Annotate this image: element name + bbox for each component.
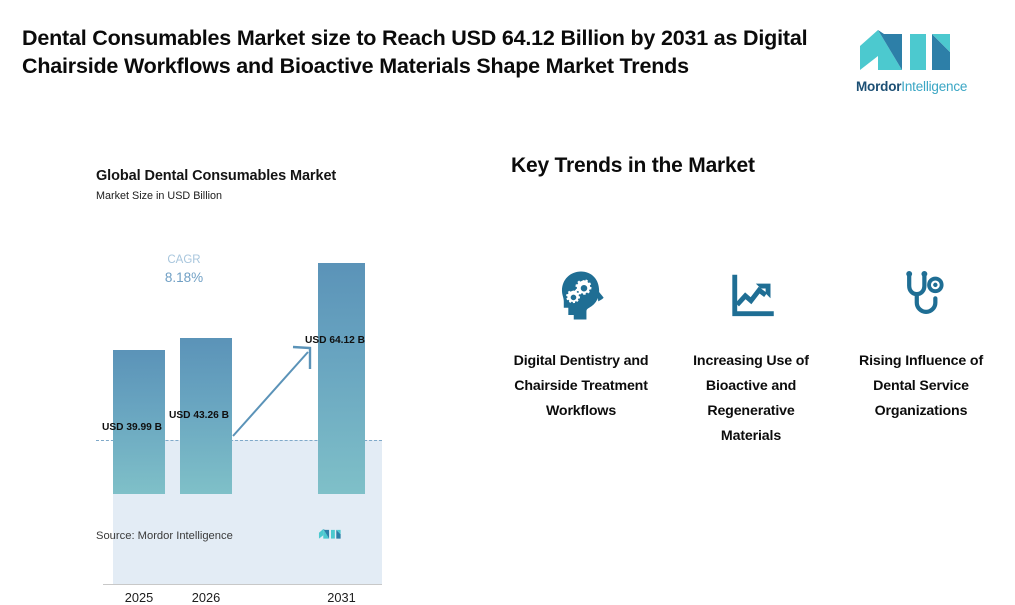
chart-subtitle: Market Size in USD Billion — [96, 190, 396, 202]
bar-chart-plot: USD 39.99 B USD 43.26 B USD 64.12 B CAGR… — [96, 252, 382, 494]
trend-label-digital-dentistry: Digital Dentistry and Chairside Treatmen… — [506, 349, 656, 424]
brand-logo: MordorIntelligence — [856, 26, 964, 98]
chart-source: Source: Mordor Intelligence — [96, 530, 233, 542]
growth-chart-icon — [725, 265, 777, 325]
trend-item-dental-service-organizations: Rising Influence of Dental Service Organ… — [836, 265, 1006, 424]
brand-name-light: Intelligence — [901, 79, 967, 94]
mordor-mark-icon — [318, 526, 344, 542]
page-title: Dental Consumables Market size to Reach … — [22, 24, 822, 80]
trend-item-digital-dentistry: Digital Dentistry and Chairside Treatmen… — [496, 265, 666, 424]
x-axis-line — [103, 584, 382, 585]
trend-label-bioactive-materials: Increasing Use of Bioactive and Regenera… — [676, 349, 826, 449]
trend-label-dental-service-organizations: Rising Influence of Dental Service Organ… — [846, 349, 996, 424]
mordor-intelligence-logo-icon — [856, 26, 964, 76]
tick-label-2031: 2031 — [318, 590, 365, 605]
head-with-gears-icon — [552, 265, 610, 325]
chart-panel: Global Dental Consumables Market Market … — [96, 168, 396, 553]
key-trends-heading: Key Trends in the Market — [511, 154, 755, 178]
brand-wordmark: MordorIntelligence — [856, 79, 964, 94]
stethoscope-icon — [894, 265, 948, 325]
tick-label-2026: 2026 — [180, 590, 232, 605]
chart-title: Global Dental Consumables Market — [96, 168, 396, 184]
trend-item-bioactive-materials: Increasing Use of Bioactive and Regenera… — [666, 265, 836, 449]
brand-name-bold: Mordor — [856, 79, 901, 94]
key-trends-row: Digital Dentistry and Chairside Treatmen… — [496, 265, 1006, 449]
cagr-growth-arrow-icon — [96, 252, 382, 494]
tick-label-2025: 2025 — [113, 590, 165, 605]
